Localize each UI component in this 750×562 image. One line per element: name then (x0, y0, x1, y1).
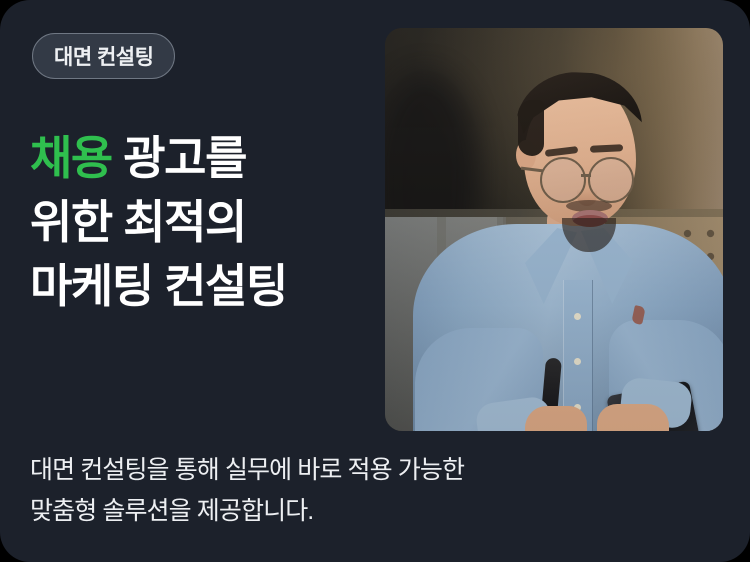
headline-line-2: 위한 최적의 (30, 190, 287, 254)
shirt-button-2 (574, 358, 581, 365)
headline-line-1-rest: 광고를 (112, 132, 246, 184)
speaker-hand-left (525, 406, 587, 431)
headline-accent-text: 채용 (30, 132, 112, 184)
speaker-photo (385, 28, 723, 431)
headline-line-3: 마케팅 컨설팅 (30, 254, 287, 318)
speaker-sideburn (518, 100, 544, 156)
consulting-promo-card: 대면 컨설팅 채용 광고를 위한 최적의 마케팅 컨설팅 대면 컨설팅을 통해 … (0, 0, 750, 562)
description-line-2: 맞춤형 솔루션을 제공합니다. (30, 491, 464, 532)
speaker-figure (385, 28, 723, 431)
speaker-hand-right (597, 404, 669, 431)
page-title: 채용 광고를 위한 최적의 마케팅 컨설팅 (30, 126, 287, 318)
shirt-button-1 (574, 313, 581, 320)
category-badge: 대면 컨설팅 (32, 33, 175, 79)
glasses-bridge (581, 174, 591, 177)
description-text: 대면 컨설팅을 통해 실무에 바로 적용 가능한 맞춤형 솔루션을 제공합니다. (30, 450, 464, 532)
headline-line-1: 채용 광고를 (30, 126, 287, 190)
description-line-1: 대면 컨설팅을 통해 실무에 바로 적용 가능한 (30, 450, 464, 491)
card-text-column: 대면 컨설팅 채용 광고를 위한 최적의 마케팅 컨설팅 대면 컨설팅을 통해 … (30, 0, 380, 562)
